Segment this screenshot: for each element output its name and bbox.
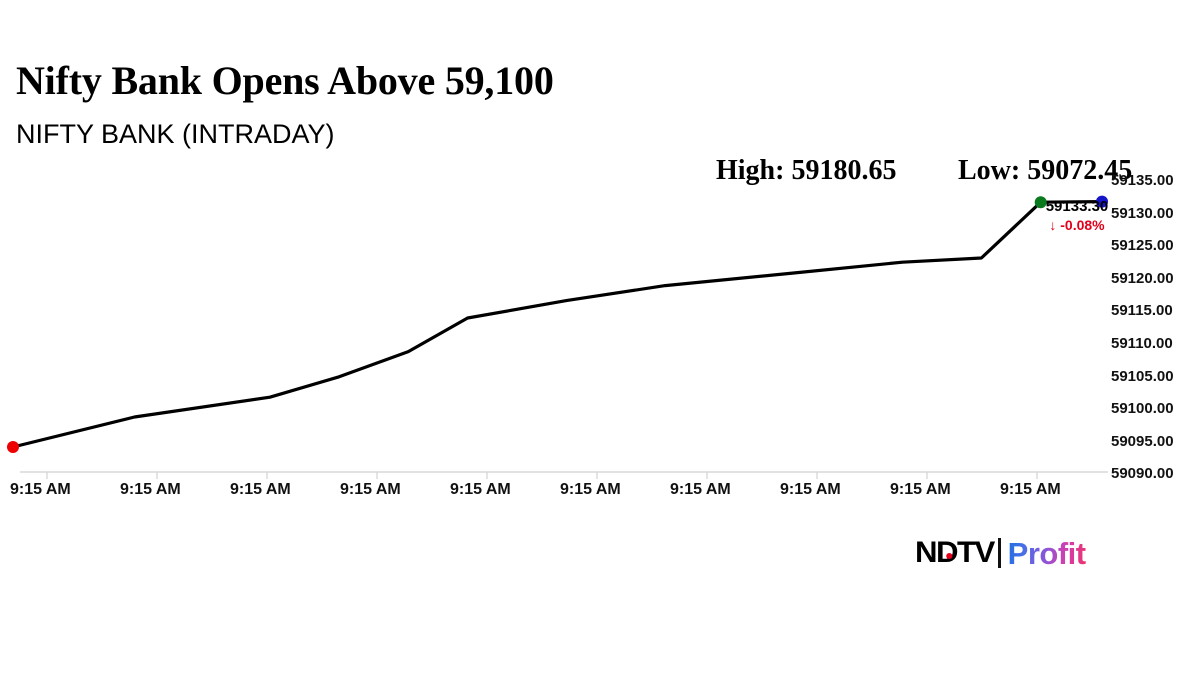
y-axis-tick-label: 59135.00	[1111, 173, 1174, 188]
low-marker	[7, 441, 19, 453]
y-axis-tick-label: 59130.00	[1111, 206, 1174, 221]
x-axis-tick-label: 9:15 AM	[1000, 481, 1061, 499]
x-axis-tick-label: 9:15 AM	[340, 481, 401, 499]
y-axis-tick-label: 59095.00	[1111, 434, 1174, 449]
last-price-callout: 59133.30 ↓ -0.08%	[1037, 198, 1117, 233]
x-axis-tick-label: 9:15 AM	[10, 481, 71, 499]
y-axis-tick-label: 59120.00	[1111, 271, 1174, 286]
ndtv-red-dot-icon	[946, 553, 952, 559]
price-markers	[7, 196, 1108, 453]
price-line	[13, 202, 1102, 447]
intraday-line-chart	[0, 0, 1200, 675]
ndtv-text: NDTV	[915, 536, 994, 569]
x-axis-tick-label: 9:15 AM	[670, 481, 731, 499]
last-price-value: 59133.30	[1037, 198, 1117, 215]
y-axis-tick-label: 59100.00	[1111, 401, 1174, 416]
y-axis-tick-label: 59125.00	[1111, 238, 1174, 253]
x-axis-tick-label: 9:15 AM	[890, 481, 951, 499]
down-arrow-icon: ↓	[1049, 217, 1056, 233]
ndtv-wordmark: NDTV	[915, 537, 994, 569]
y-axis-tick-label: 59115.00	[1111, 303, 1173, 318]
x-axis-ticks	[47, 472, 1037, 479]
y-axis-tick-label: 59105.00	[1111, 369, 1174, 384]
chart-card: Nifty Bank Opens Above 59,100 NIFTY BANK…	[0, 0, 1200, 675]
x-axis-tick-label: 9:15 AM	[120, 481, 181, 499]
y-axis-tick-label: 59110.00	[1111, 336, 1173, 351]
last-price-change: ↓ -0.08%	[1037, 217, 1117, 233]
x-axis-tick-label: 9:15 AM	[450, 481, 511, 499]
change-percent-value: -0.08%	[1060, 217, 1104, 233]
profit-wordmark: Profit	[1008, 537, 1086, 570]
ndtv-profit-logo: NDTV Profit	[915, 533, 1086, 573]
x-axis-tick-label: 9:15 AM	[560, 481, 621, 499]
logo-divider	[998, 538, 1001, 568]
x-axis-tick-label: 9:15 AM	[780, 481, 841, 499]
x-axis-tick-label: 9:15 AM	[230, 481, 291, 499]
y-axis-tick-label: 59090.00	[1111, 466, 1174, 481]
